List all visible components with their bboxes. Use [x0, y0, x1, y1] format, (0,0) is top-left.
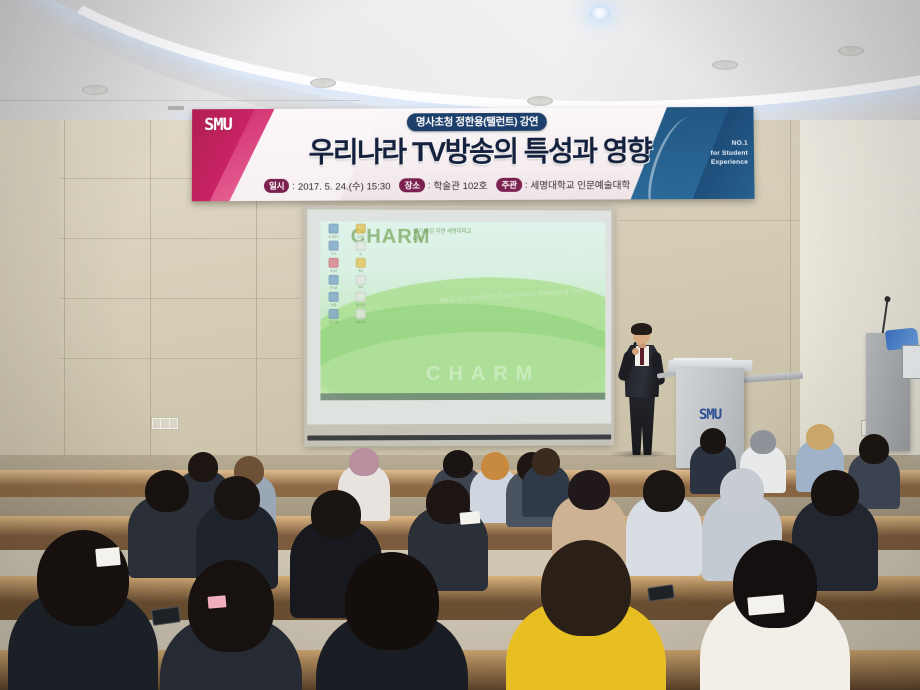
- my-computer-icon: [329, 224, 339, 234]
- banner-sep: :: [428, 180, 431, 191]
- banner-chip-date: 일시: [264, 179, 289, 193]
- folder-icon[interactable]: 폴더: [350, 258, 372, 273]
- banner-smu-logo: SMU: [204, 117, 232, 134]
- audience-member-head: [806, 424, 834, 450]
- banner-slogan-line-2: for Student: [674, 148, 748, 158]
- audience-member: [506, 540, 666, 690]
- switch-toggle[interactable]: [170, 419, 177, 428]
- recycle-bin-icon[interactable]: 휴지통: [350, 224, 372, 239]
- audience-member: [552, 470, 626, 548]
- banner-slogan: NO.1 for Student Experience: [674, 139, 748, 168]
- audience-member: [160, 560, 302, 690]
- shortcut-icon: [356, 309, 366, 319]
- recessed-downlight-icon: [310, 78, 336, 88]
- audience-member-head: [568, 470, 610, 510]
- audience-member-head: [481, 452, 509, 480]
- banner-info-place: 장소 : 학술관 102호: [400, 178, 488, 192]
- audience-member-head: [541, 540, 631, 636]
- pdf-icon[interactable]: PDF: [350, 275, 372, 290]
- pdf-icon: [356, 275, 366, 285]
- audience-member-head: [188, 560, 274, 652]
- recessed-downlight-icon: [838, 46, 864, 56]
- projection-screen-surface: CHARM 살기 좋은 자연 세명대학교 대학 No.1 for Student…: [307, 209, 611, 424]
- excel-doc-icon: [356, 241, 366, 251]
- app-icon: [329, 309, 339, 319]
- speaker-legs: [629, 395, 655, 455]
- media-player-icon[interactable]: 미디어: [322, 258, 344, 273]
- banner-title: 우리나라 TV방송의 특성과 영향: [284, 129, 676, 171]
- wall-seam: [64, 120, 65, 480]
- audience-member-head: [443, 450, 473, 478]
- network-icon[interactable]: 네트워크: [350, 292, 372, 307]
- network-icon: [356, 292, 366, 302]
- desktop-icon-label: 인터넷: [322, 286, 344, 290]
- desktop-icon-label: 네트워크: [350, 303, 372, 307]
- light-switch-panel[interactable]: [151, 417, 179, 430]
- desktop-icon-label: 미디어: [322, 269, 344, 273]
- banner-date-value: 2017. 5. 24.(수) 15:30: [298, 178, 391, 192]
- audience-member-head: [311, 490, 361, 538]
- ceiling-seam: [0, 100, 360, 101]
- browser-icon: [329, 275, 339, 285]
- banner-sep: :: [292, 180, 295, 191]
- desktop-watermark: CHARM: [426, 363, 540, 386]
- banner-place-value: 학술관 102호: [433, 178, 487, 192]
- projection-screen-bottom-bar: [307, 434, 611, 440]
- speaker-tie: [640, 348, 644, 365]
- settings-icon[interactable]: 설정: [322, 292, 344, 307]
- desktop-icon-label: 문서: [322, 252, 344, 256]
- podium-smu-logo: SMU: [676, 408, 744, 422]
- banner-chip-host: 주관: [496, 178, 521, 192]
- audience-member-head: [859, 434, 889, 464]
- desktop-taskbar[interactable]: [320, 393, 605, 401]
- wall-seam: [790, 120, 791, 480]
- recycle-bin-icon: [356, 224, 366, 234]
- audience-member: [316, 552, 468, 690]
- banner-sep: :: [525, 179, 528, 190]
- audience-member-head: [720, 468, 764, 512]
- banner-info-date: 일시 : 2017. 5. 24.(수) 15:30: [264, 178, 391, 193]
- audience-member-head: [214, 476, 260, 520]
- handout-paper: [460, 511, 481, 525]
- banner-chip-place: 장소: [400, 178, 425, 192]
- audience-member-head: [733, 540, 817, 628]
- switch-toggle[interactable]: [161, 419, 168, 428]
- banner-info-row: 일시 : 2017. 5. 24.(수) 15:30 장소 : 학술관 102호…: [264, 173, 677, 197]
- banner-slogan-line-3: Experience: [674, 158, 748, 168]
- desktop-icon-label: 프로그램: [322, 320, 344, 324]
- excel-doc-icon[interactable]: 표: [350, 241, 372, 256]
- folder-icon: [356, 258, 366, 268]
- audience-member: [8, 530, 158, 690]
- audience-member-head: [345, 552, 439, 650]
- banner-slogan-line-1: NO.1: [674, 139, 748, 149]
- audience-member-head: [643, 470, 685, 512]
- handout-paper: [747, 594, 784, 615]
- desktop-icon-label: PDF: [350, 286, 372, 289]
- word-doc-icon: [329, 241, 339, 251]
- audience-member-head: [700, 428, 726, 454]
- rack-monitor: [902, 345, 920, 379]
- desktop-icon-label: 설정: [322, 303, 344, 307]
- audience-member-head: [349, 448, 379, 476]
- audience-member-head: [37, 530, 129, 626]
- app-icon[interactable]: 프로그램: [322, 309, 344, 324]
- speaker-hand: [632, 348, 639, 355]
- switch-toggle[interactable]: [153, 419, 160, 428]
- spot-lamp-icon: [590, 8, 610, 19]
- speaker-presenter: [616, 325, 668, 455]
- audience-member-head: [750, 430, 776, 454]
- handout-paper: [95, 547, 120, 567]
- settings-icon: [329, 292, 339, 302]
- banner-info-host: 주관 : 세명대학교 인문예술대학: [496, 177, 630, 192]
- speaker-hair: [631, 323, 652, 335]
- recessed-downlight-icon: [82, 85, 108, 95]
- desktop-icon-label: 내 컴퓨터: [322, 235, 344, 239]
- desktop-icon-label: 폴더: [350, 269, 372, 273]
- desktop-icon-grid[interactable]: 내 컴퓨터휴지통문서표미디어폴더인터넷PDF설정네트워크프로그램바로가기: [322, 224, 378, 324]
- my-computer-icon[interactable]: 내 컴퓨터: [322, 224, 344, 239]
- word-doc-icon[interactable]: 문서: [322, 241, 344, 256]
- desktop-icon-label: 바로가기: [350, 320, 372, 324]
- projected-desktop: CHARM 살기 좋은 자연 세명대학교 대학 No.1 for Student…: [320, 222, 605, 401]
- desktop-icon-label: 휴지통: [350, 235, 372, 239]
- audience-member: [700, 540, 850, 690]
- lecture-hall-photo: SMU 명사초청 정한용(탤런트) 강연 우리나라 TV방송의 특성과 영향 일…: [0, 0, 920, 690]
- projection-screen: CHARM 살기 좋은 자연 세명대학교 대학 No.1 for Student…: [304, 205, 614, 446]
- ceiling-vent-icon: [168, 106, 184, 110]
- recessed-downlight-icon: [527, 96, 553, 106]
- event-banner: SMU 명사초청 정한용(탤런트) 강연 우리나라 TV방송의 특성과 영향 일…: [192, 107, 755, 201]
- banner-host-value: 세명대학교 인문예술대학: [530, 177, 630, 191]
- banner-badge: 명사초청 정한용(탤런트) 강연: [407, 113, 547, 132]
- media-player-icon: [329, 258, 339, 268]
- desktop-korean-subtitle: 살기 좋은 자연 세명대학교 대학: [413, 228, 473, 245]
- audience-member-head: [811, 470, 859, 516]
- desktop-icon-label: 표: [350, 252, 372, 256]
- recessed-downlight-icon: [712, 60, 738, 70]
- shortcut-icon[interactable]: 바로가기: [350, 309, 372, 324]
- pink-notebook: [208, 595, 227, 609]
- audience-member: [196, 476, 278, 562]
- browser-icon[interactable]: 인터넷: [322, 275, 344, 290]
- audience-member-head: [145, 470, 189, 512]
- audience-member: [796, 424, 844, 476]
- wall-left-column: [0, 120, 60, 480]
- audience-member: [626, 470, 702, 550]
